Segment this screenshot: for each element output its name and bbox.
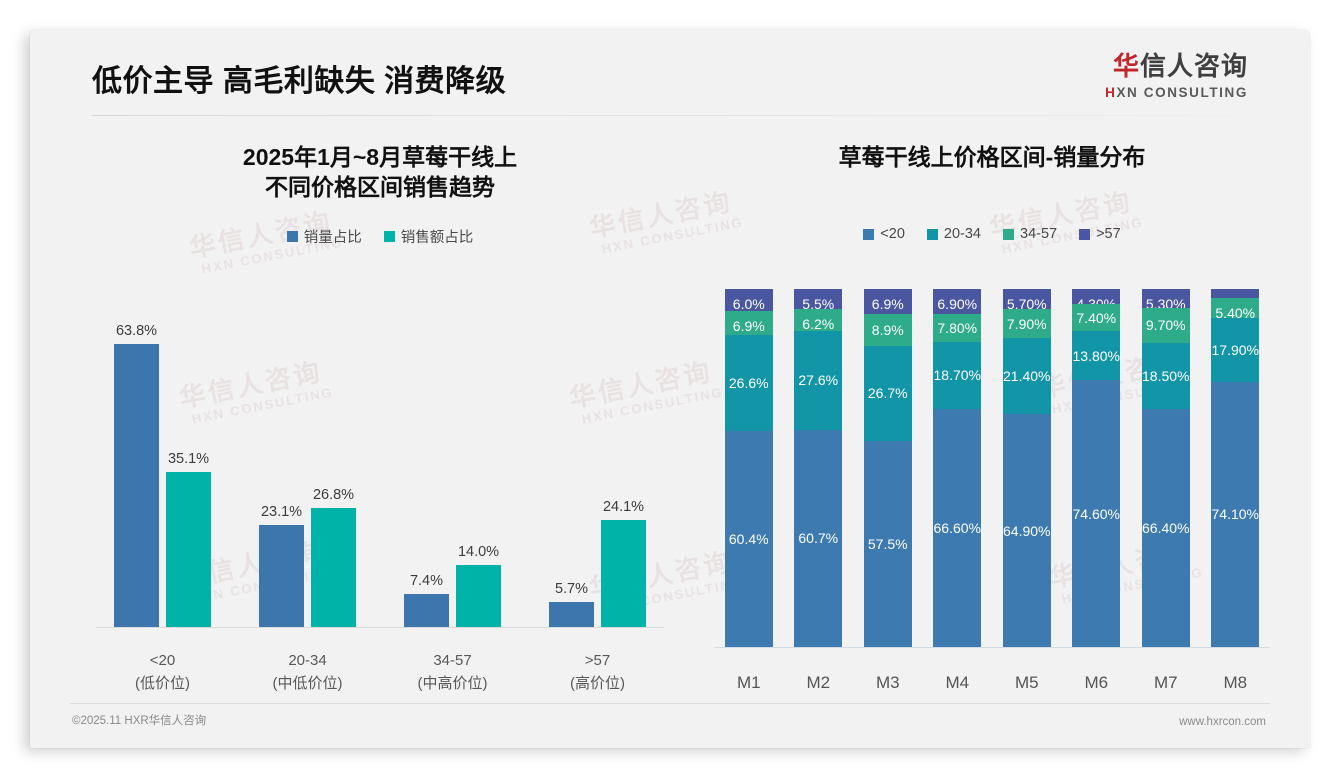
legend-swatch-icon [287, 231, 298, 242]
legend-label: <20 [880, 226, 905, 242]
legend-swatch-icon [927, 229, 938, 240]
stack-value-label: 6.9% [872, 296, 904, 312]
x-axis-label-sub: (中低价位) [273, 673, 343, 696]
x-axis-label-sub: (低价位) [135, 673, 190, 696]
footer-divider [70, 703, 1270, 704]
header-divider [92, 115, 1252, 116]
bar-销量占比-20-34[interactable]: 23.1% [259, 525, 304, 627]
bar-value-label: 24.1% [603, 499, 644, 515]
stack-segment-34-57[interactable]: 6.9% [725, 311, 773, 336]
stack-value-label: 64.90% [1003, 523, 1050, 539]
logo-en-rest: XN CONSULTING [1116, 85, 1248, 100]
bar-value-label: 14.0% [458, 544, 499, 560]
logo-chinese-text: 华信人咨询 [1105, 53, 1248, 79]
x-axis-label-sub: (高价位) [570, 673, 625, 696]
legend-label: 20-34 [944, 226, 981, 242]
legend-item-20-34[interactable]: 20-34 [927, 226, 981, 242]
bar-value-label: 63.8% [116, 323, 157, 339]
stack-segment-20-34[interactable]: 18.70% [933, 342, 981, 409]
stack-value-label: 57.5% [868, 536, 908, 552]
legend-item-销售额占比[interactable]: 销售额占比 [384, 226, 474, 247]
stack-value-label: 17.90% [1212, 342, 1259, 358]
left-chart-title-line1: 2025年1月~8月草莓干线上 [70, 142, 690, 172]
stack-value-label: 7.90% [1007, 316, 1047, 332]
stack-segment->57[interactable]: 2.60% [1211, 289, 1259, 298]
x-axis-label-main: 20-34 [288, 652, 326, 669]
stack-value-label: 18.50% [1142, 368, 1189, 384]
stacked-bar-M7[interactable]: 5.30%9.70%18.50%66.40%M7 [1142, 289, 1190, 647]
stack-segment->57[interactable]: 6.90% [933, 289, 981, 314]
stack-segment-20-34[interactable]: 27.6% [794, 331, 842, 430]
stack-segment-<20[interactable]: 66.60% [933, 409, 981, 647]
stack-segment-34-57[interactable]: 7.40% [1072, 304, 1120, 330]
stacked-bar-M6[interactable]: 4.30%7.40%13.80%74.60%M6 [1072, 289, 1120, 647]
left-chart-plot: 63.8%35.1%<20(低价位)23.1%26.8%20-34(中低价位)7… [90, 290, 670, 628]
stacked-bar-M8[interactable]: 2.60%5.40%17.90%74.10%M8 [1211, 289, 1259, 647]
legend-label: 销量占比 [304, 226, 362, 247]
stack-segment-34-57[interactable]: 7.80% [933, 314, 981, 342]
stack-segment-<20[interactable]: 60.4% [725, 431, 773, 647]
x-axis-label-M3: M3 [876, 673, 900, 693]
bar-销售额占比-20-34[interactable]: 26.8% [311, 508, 356, 627]
bar-fill [549, 602, 594, 627]
legend-swatch-icon [1079, 229, 1090, 240]
legend-label: 销售额占比 [401, 226, 474, 247]
stacked-bar-M1[interactable]: 6.0%6.9%26.6%60.4%M1 [725, 289, 773, 647]
stack-value-label: 26.7% [868, 385, 908, 401]
stack-value-label: 27.6% [798, 372, 838, 388]
bar-销量占比-34-57[interactable]: 7.4% [404, 594, 449, 627]
logo-rest-chars: 信人咨询 [1140, 51, 1248, 81]
x-axis-label-main: >57 [585, 652, 610, 669]
bar-value-label: 26.8% [313, 487, 354, 503]
bar-group: 7.4%14.0%34-57(中高价位) [380, 289, 525, 627]
x-axis-label-M2: M2 [806, 673, 830, 693]
left-chart-title: 2025年1月~8月草莓干线上 不同价格区间销售趋势 [70, 142, 690, 203]
stack-segment-20-34[interactable]: 26.7% [864, 346, 912, 442]
x-axis-label-34-57: 34-57(中高价位) [418, 650, 488, 695]
footer-copyright: ©2025.11 HXR华信人咨询 [72, 712, 206, 728]
bar-销量占比->57[interactable]: 5.7% [549, 602, 594, 627]
bar-value-label: 7.4% [410, 573, 443, 589]
bar-group: 63.8%35.1%<20(低价位) [90, 289, 235, 627]
stack-segment-<20[interactable]: 74.60% [1072, 380, 1120, 647]
right-chart-plot: 6.0%6.9%26.6%60.4%M15.5%6.2%27.6%60.7%M2… [714, 290, 1270, 648]
logo-accent-char: 华 [1113, 51, 1140, 81]
bar-销售额占比->57[interactable]: 24.1% [601, 520, 646, 627]
x-axis-label-M6: M6 [1084, 673, 1108, 693]
slide-header: 低价主导 高毛利缺失 消费降级 华信人咨询 HXN CONSULTING [30, 30, 1310, 116]
left-chart-title-line2: 不同价格区间销售趋势 [70, 172, 690, 202]
left-chart-legend: 销量占比销售额占比 [70, 226, 690, 247]
stack-segment-20-34[interactable]: 18.50% [1142, 343, 1190, 409]
x-axis-label-<20: <20(低价位) [135, 650, 190, 695]
stack-value-label: 13.80% [1073, 348, 1120, 364]
right-chart-axis-line [714, 647, 1270, 648]
stack-segment-20-34[interactable]: 17.90% [1211, 318, 1259, 382]
bar-fill [114, 344, 159, 627]
legend-item-34-57[interactable]: 34-57 [1003, 226, 1057, 242]
stacked-bar-M2[interactable]: 5.5%6.2%27.6%60.7%M2 [794, 289, 842, 647]
logo-english-text: HXN CONSULTING [1105, 86, 1248, 100]
bar-fill [456, 565, 501, 627]
right-chart-title: 草莓干线上价格区间-销量分布 [702, 142, 1282, 172]
x-axis-label-M8: M8 [1223, 673, 1247, 693]
stack-segment->57[interactable]: 5.5% [794, 289, 842, 309]
stack-segment-<20[interactable]: 60.7% [794, 430, 842, 647]
bar-fill [259, 525, 304, 627]
x-axis-label-M7: M7 [1154, 673, 1178, 693]
stack-segment-34-57[interactable]: 8.9% [864, 314, 912, 346]
stack-value-label: 6.2% [802, 316, 834, 332]
stack-segment-34-57[interactable]: 9.70% [1142, 308, 1190, 343]
legend-label: >57 [1096, 226, 1121, 242]
x-axis-label-M1: M1 [737, 673, 761, 693]
stack-segment->57[interactable]: 4.30% [1072, 289, 1120, 304]
stack-segment-34-57[interactable]: 6.2% [794, 309, 842, 331]
x-axis-label-M5: M5 [1015, 673, 1039, 693]
bar-group: 23.1%26.8%20-34(中低价位) [235, 289, 380, 627]
bar-销售额占比-<20[interactable]: 35.1% [166, 472, 211, 627]
stack-segment-20-34[interactable]: 26.6% [725, 335, 773, 430]
stack-segment-20-34[interactable]: 21.40% [1003, 338, 1051, 415]
stack-value-label: 6.90% [937, 296, 977, 312]
legend-swatch-icon [863, 229, 874, 240]
right-chart-legend: <2020-3434-57>57 [702, 226, 1282, 242]
right-chart-panel: 草莓干线上价格区间-销量分布 <2020-3434-57>57 6.0%6.9%… [702, 130, 1282, 710]
stack-value-label: 7.40% [1076, 310, 1116, 326]
legend-swatch-icon [384, 231, 395, 242]
company-logo: 华信人咨询 HXN CONSULTING [1105, 53, 1248, 100]
stacked-bar-M4[interactable]: 6.90%7.80%18.70%66.60%M4 [933, 289, 981, 647]
logo-en-accent: H [1105, 85, 1116, 100]
bar-fill [404, 594, 449, 627]
stacked-bar-M3[interactable]: 6.9%8.9%26.7%57.5%M3 [864, 289, 912, 647]
stack-value-label: 66.40% [1142, 520, 1189, 536]
left-chart-panel: 2025年1月~8月草莓干线上 不同价格区间销售趋势 销量占比销售额占比 63.… [70, 130, 690, 710]
stack-segment-34-57[interactable]: 5.40% [1211, 298, 1259, 317]
slide-canvas: 低价主导 高毛利缺失 消费降级 华信人咨询 HXN CONSULTING 华信人… [30, 30, 1310, 748]
stack-value-label: 8.9% [872, 322, 904, 338]
stack-segment-<20[interactable]: 66.40% [1142, 409, 1190, 647]
legend-item-<20[interactable]: <20 [863, 226, 905, 242]
stack-segment->57[interactable]: 5.70% [1003, 289, 1051, 309]
bar-销量占比-<20[interactable]: 63.8% [114, 344, 159, 627]
stack-value-label: 60.7% [798, 530, 838, 546]
stack-segment-20-34[interactable]: 13.80% [1072, 331, 1120, 380]
stack-value-label: 66.60% [934, 520, 981, 536]
stack-value-label: 21.40% [1003, 368, 1050, 384]
stack-value-label: 7.80% [937, 320, 977, 336]
x-axis-label-main: <20 [150, 652, 175, 669]
stack-value-label: 9.70% [1146, 317, 1186, 333]
stack-segment-<20[interactable]: 64.90% [1003, 414, 1051, 647]
stack-value-label: 60.4% [729, 531, 769, 547]
stack-value-label: 6.9% [733, 318, 765, 334]
stack-segment->57[interactable]: 6.0% [725, 289, 773, 311]
x-axis-label->57: >57(高价位) [570, 650, 625, 695]
stack-value-label: 26.6% [729, 375, 769, 391]
footer-website: www.hxrcon.com [1179, 716, 1266, 728]
bar-value-label: 35.1% [168, 451, 209, 467]
legend-item-销量占比[interactable]: 销量占比 [287, 226, 362, 247]
x-axis-label-sub: (中高价位) [418, 673, 488, 696]
page-title: 低价主导 高毛利缺失 消费降级 [92, 56, 506, 100]
stack-value-label: 18.70% [934, 367, 981, 383]
bar-fill [166, 472, 211, 627]
stack-segment-<20[interactable]: 57.5% [864, 441, 912, 647]
stack-segment-<20[interactable]: 74.10% [1211, 382, 1259, 647]
bar-fill [311, 508, 356, 627]
legend-label: 34-57 [1020, 226, 1057, 242]
stack-segment->57[interactable]: 5.30% [1142, 289, 1190, 308]
stack-value-label: 74.60% [1073, 506, 1120, 522]
bar-销售额占比-34-57[interactable]: 14.0% [456, 565, 501, 627]
bar-value-label: 5.7% [555, 581, 588, 597]
legend-swatch-icon [1003, 229, 1014, 240]
stack-value-label: 74.10% [1212, 506, 1259, 522]
bar-value-label: 23.1% [261, 504, 302, 520]
bar-group: 5.7%24.1%>57(高价位) [525, 289, 670, 627]
left-chart-axis-line [96, 627, 664, 628]
x-axis-label-main: 34-57 [433, 652, 471, 669]
x-axis-label-M4: M4 [945, 673, 969, 693]
stacked-bar-M5[interactable]: 5.70%7.90%21.40%64.90%M5 [1003, 289, 1051, 647]
bar-fill [601, 520, 646, 627]
x-axis-label-20-34: 20-34(中低价位) [273, 650, 343, 695]
stack-segment-34-57[interactable]: 7.90% [1003, 309, 1051, 337]
stack-segment->57[interactable]: 6.9% [864, 289, 912, 314]
legend-item->57[interactable]: >57 [1079, 226, 1121, 242]
